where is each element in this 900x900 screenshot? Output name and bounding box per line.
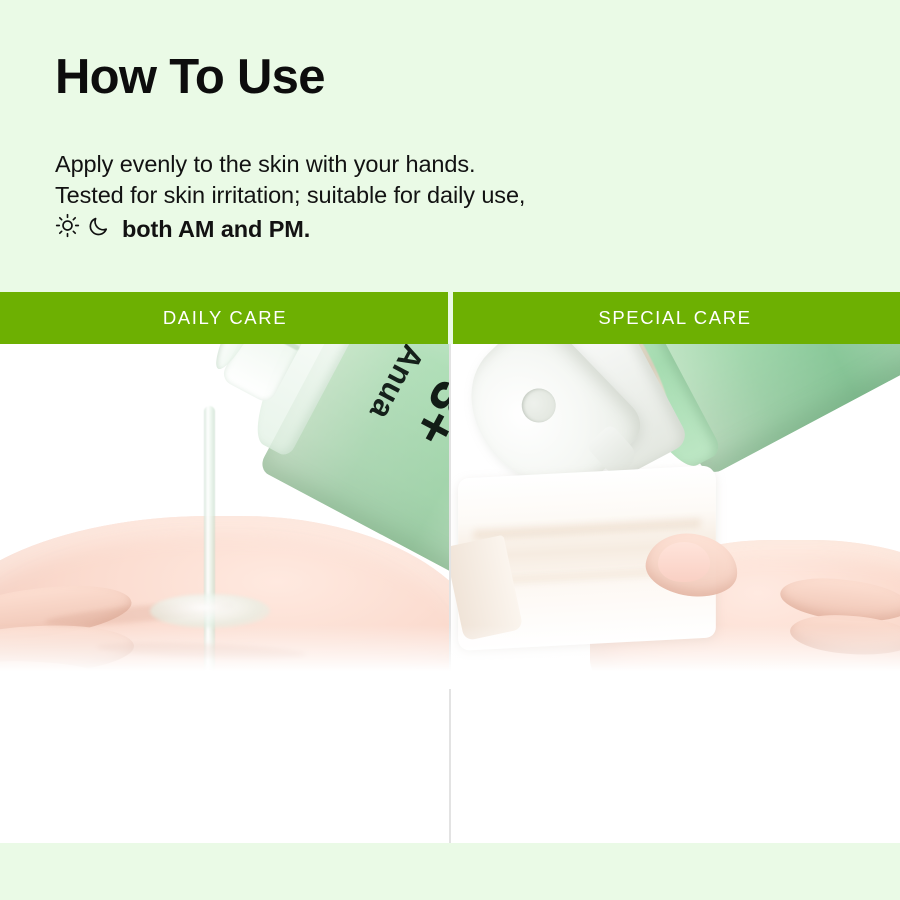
intro-line-1: Apply evenly to the skin with your hands… bbox=[55, 149, 900, 180]
band-label-daily-care: DAILY CARE bbox=[163, 307, 287, 329]
finger bbox=[0, 621, 135, 679]
band-divider bbox=[448, 292, 453, 344]
thumbnail bbox=[658, 542, 710, 582]
palm-crease bbox=[96, 640, 306, 661]
page-title: How To Use bbox=[55, 52, 900, 103]
moon-icon bbox=[87, 214, 111, 246]
finger bbox=[0, 657, 129, 689]
intro-line-2: Tested for skin irritation; suitable for… bbox=[55, 180, 900, 211]
intro-section: How To Use Apply evenly to the skin with… bbox=[0, 0, 900, 292]
panel-divider bbox=[449, 344, 451, 843]
panel-daily-care: Anua 3+ Gently pat into the skin using y… bbox=[0, 344, 450, 843]
panel-special-care: Anua When concerned about texture or por… bbox=[450, 344, 900, 843]
special-care-photo: Anua bbox=[450, 344, 900, 689]
band-label-special-care: SPECIAL CARE bbox=[598, 307, 751, 329]
ampm-label: both AM and PM. bbox=[122, 214, 310, 245]
essence-stream bbox=[204, 406, 215, 689]
band-cell-special: SPECIAL CARE bbox=[450, 292, 900, 344]
daily-care-photo: Anua 3+ bbox=[0, 344, 450, 689]
ampm-line: both AM and PM. bbox=[55, 213, 900, 246]
band-cell-daily: DAILY CARE bbox=[0, 292, 450, 344]
how-to-use-graphic: How To Use Apply evenly to the skin with… bbox=[0, 0, 900, 900]
sun-icon bbox=[55, 213, 80, 246]
bottom-strip bbox=[0, 843, 900, 900]
intro-text: Apply evenly to the skin with your hands… bbox=[55, 149, 900, 246]
essence-pool bbox=[150, 594, 270, 628]
